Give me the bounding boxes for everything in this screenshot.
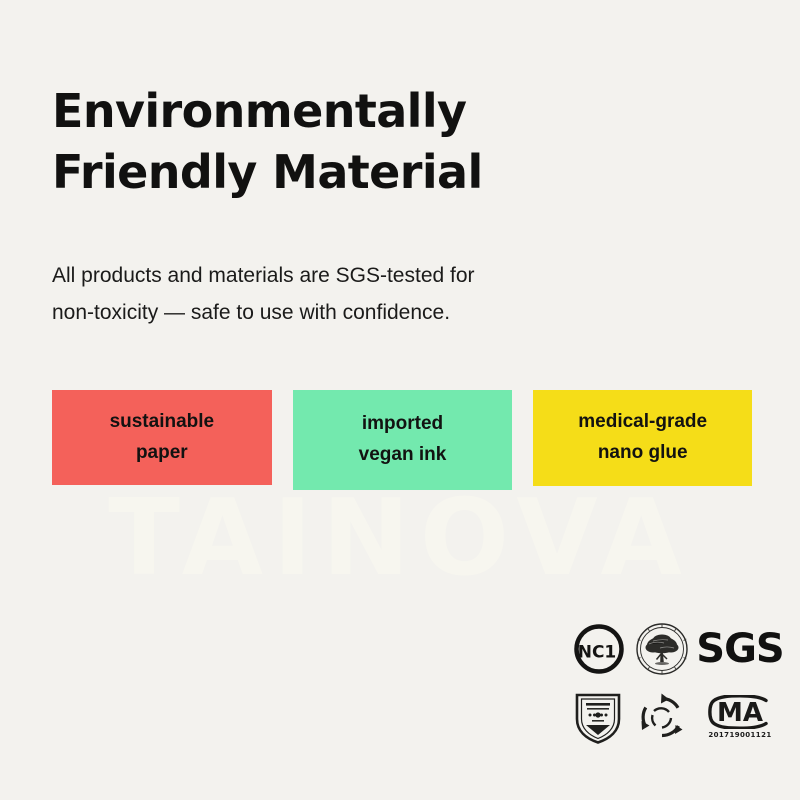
sgs-wordmark-icon: SGS <box>698 626 782 672</box>
sgs-label: SGS <box>696 629 783 669</box>
page-title: Environmentally Friendly Material <box>52 81 712 202</box>
material-chip-group: sustainable paper imported vegan ink med… <box>52 390 752 487</box>
certification-row-top: NC1 <box>572 618 784 680</box>
certification-row-bottom: MA 201719001121 <box>572 686 784 748</box>
cma-mark-icon: MA 201719001121 <box>700 689 780 745</box>
body-copy-line-1: All products and materials are SGS-teste… <box>52 257 672 294</box>
chip-imported-vegan-ink: imported vegan ink <box>293 390 513 490</box>
chip-sustainable-paper: sustainable paper <box>52 390 272 485</box>
shield-badge-icon <box>572 689 624 745</box>
brand-watermark: TAINOVA <box>0 486 800 591</box>
chip-label-line-1: imported <box>362 409 443 440</box>
chip-label-line-2: nano glue <box>598 438 688 469</box>
chip-label-line-2: vegan ink <box>359 440 447 471</box>
chip-label-line-2: paper <box>136 438 188 469</box>
page-title-line-2: Friendly Material <box>52 142 712 203</box>
nc1-circle-icon: NC1 <box>572 622 626 676</box>
body-copy-line-2: non-toxicity — safe to use with confiden… <box>52 294 672 331</box>
body-copy: All products and materials are SGS-teste… <box>52 257 672 332</box>
cma-certificate-number: 201719001121 <box>708 731 771 739</box>
poster-canvas: TAINOVA Environmentally Friendly Materia… <box>0 0 800 800</box>
recycle-arrows-icon <box>634 689 690 745</box>
chip-label-line-1: medical-grade <box>578 407 707 438</box>
tree-seal-icon <box>634 621 690 677</box>
page-title-line-1: Environmentally <box>52 81 712 142</box>
chip-label-line-1: sustainable <box>110 407 215 438</box>
chip-medical-grade-nano-glue: medical-grade nano glue <box>533 390 752 486</box>
certification-badges: NC1 <box>572 618 784 750</box>
svg-text:MA: MA <box>717 698 763 728</box>
svg-text:NC1: NC1 <box>578 643 617 663</box>
